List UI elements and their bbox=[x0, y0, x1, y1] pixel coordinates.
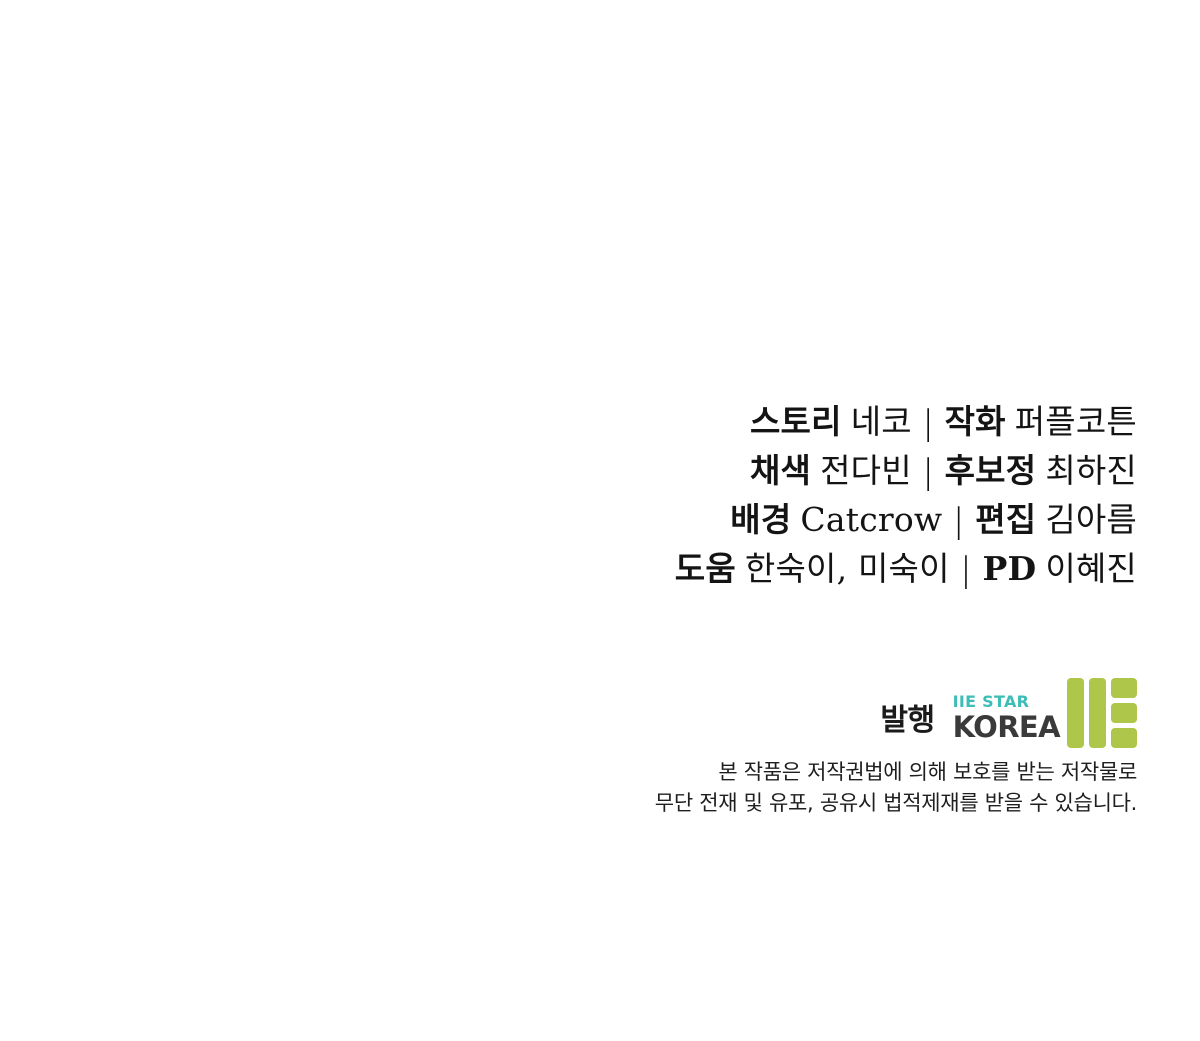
copyright-line: 무단 전재 및 유포, 공유시 법적제재를 받을 수 있습니다. bbox=[0, 788, 1137, 819]
credit-line: 스토리네코|작화퍼플코튼 bbox=[0, 398, 1137, 447]
credit-role: 스토리 bbox=[750, 402, 842, 441]
credit-separator: | bbox=[950, 543, 983, 597]
credit-name: 김아름 bbox=[1045, 500, 1137, 539]
credit-separator: | bbox=[912, 445, 945, 499]
credit-separator: | bbox=[912, 396, 945, 450]
logo-chip-icon bbox=[1111, 678, 1137, 698]
credit-role: 도움 bbox=[675, 549, 736, 588]
logo-chip-icon bbox=[1111, 703, 1137, 723]
credit-name: Catcrow bbox=[800, 500, 942, 539]
logo-bar-icon bbox=[1089, 678, 1106, 748]
credit-role: 작화 bbox=[945, 402, 1006, 441]
copyright-notice: 본 작품은 저작권법에 의해 보호를 받는 저작물로 무단 전재 및 유포, 공… bbox=[0, 757, 1137, 819]
credit-name: 한숙이, 미숙이 bbox=[745, 549, 950, 588]
publisher-row: 발행 IIE STAR KOREA bbox=[0, 678, 1137, 748]
credits-block: 스토리네코|작화퍼플코튼 채색전다빈|후보정최하진 배경Catcrow|편집김아… bbox=[0, 398, 1137, 594]
credit-name: 이혜진 bbox=[1045, 549, 1137, 588]
credits-page: 스토리네코|작화퍼플코튼 채색전다빈|후보정최하진 배경Catcrow|편집김아… bbox=[0, 0, 1200, 1041]
credit-role: 채색 bbox=[750, 451, 811, 490]
credit-name: 퍼플코튼 bbox=[1015, 402, 1137, 441]
logo-chip-icon bbox=[1111, 728, 1137, 748]
logo-star-text: IIE STAR bbox=[953, 694, 1030, 711]
copyright-line: 본 작품은 저작권법에 의해 보호를 받는 저작물로 bbox=[0, 757, 1137, 788]
logo-mark-icon bbox=[1067, 678, 1137, 748]
credit-separator: | bbox=[942, 494, 975, 548]
logo-wordmark: IIE STAR KOREA bbox=[953, 694, 1060, 748]
credit-role: PD bbox=[982, 549, 1036, 588]
credit-name: 최하진 bbox=[1045, 451, 1137, 490]
logo-stack-icon bbox=[1111, 678, 1137, 748]
credit-line: 도움한숙이, 미숙이|PD이혜진 bbox=[0, 545, 1137, 594]
credit-name: 전다빈 bbox=[820, 451, 912, 490]
logo-korea-text: KOREA bbox=[953, 712, 1060, 742]
iie-star-korea-logo: IIE STAR KOREA bbox=[953, 678, 1137, 748]
credit-line: 채색전다빈|후보정최하진 bbox=[0, 447, 1137, 496]
logo-bar-icon bbox=[1067, 678, 1084, 748]
credit-role: 후보정 bbox=[945, 451, 1037, 490]
publisher-label: 발행 bbox=[880, 706, 934, 748]
credit-line: 배경Catcrow|편집김아름 bbox=[0, 496, 1137, 545]
credit-role: 배경 bbox=[730, 500, 791, 539]
credit-role: 편집 bbox=[975, 500, 1036, 539]
credit-name: 네코 bbox=[851, 402, 912, 441]
